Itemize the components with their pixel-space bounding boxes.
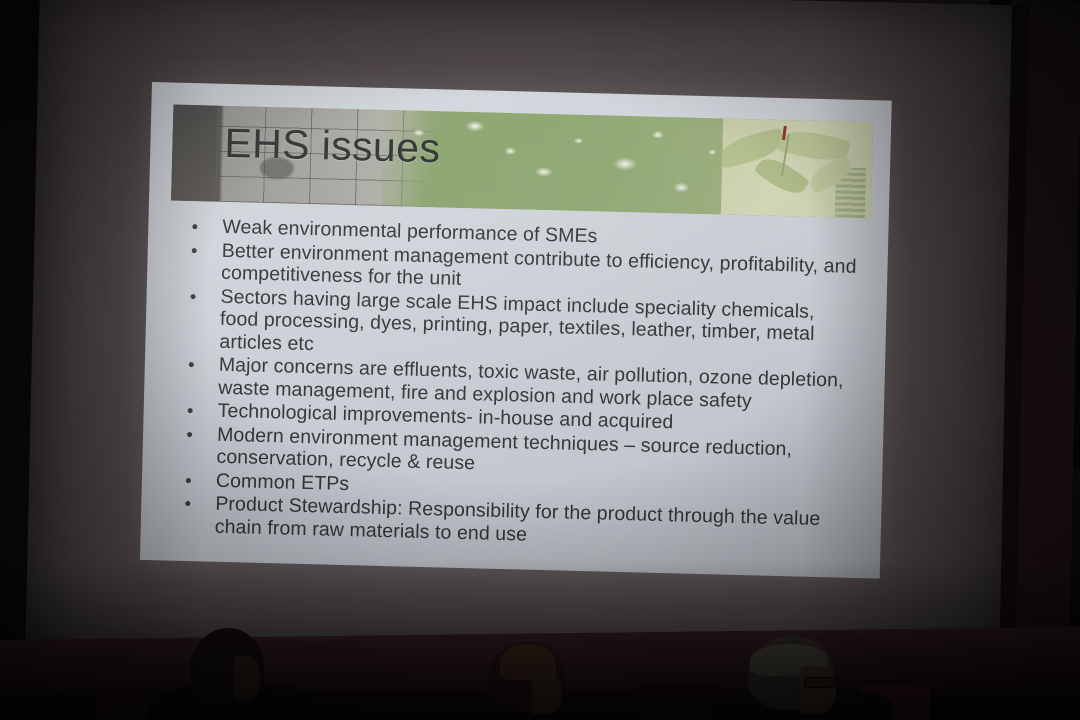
bullet-dot-icon <box>192 224 197 229</box>
seated-person-center <box>470 640 600 720</box>
bullet-dot-icon <box>191 294 196 299</box>
slide-title-banner: EHS issues <box>171 105 873 219</box>
person-face-profile <box>532 672 562 714</box>
bullet-dot-icon <box>187 432 192 437</box>
seated-person-right <box>726 634 876 720</box>
leaf-shape <box>754 151 810 201</box>
bullet-dot-icon <box>185 501 190 506</box>
projected-slide: EHS issues Weak environmental performanc… <box>140 82 892 579</box>
photo-scene: EHS issues Weak environmental performanc… <box>0 0 1080 720</box>
slide-bullet-list: Weak environmental performance of SMEs B… <box>163 215 859 554</box>
person-face-profile <box>234 656 260 700</box>
bullet-dot-icon <box>192 248 197 253</box>
screen-right-edge-shadow <box>998 0 1080 720</box>
bullet-dot-icon <box>186 477 191 482</box>
bullet-text: Common ETPs <box>216 469 350 494</box>
slide-title: EHS issues <box>224 120 441 172</box>
eyeglasses-icon <box>804 677 840 688</box>
person-face-profile <box>800 666 836 714</box>
bullet-dot-icon <box>188 408 193 413</box>
banner-dark-column <box>171 105 217 202</box>
seated-person-left <box>168 630 298 720</box>
chair-back <box>94 694 148 720</box>
bullet-dot-icon <box>189 362 194 367</box>
banner-leaf-sprig-photo <box>721 118 873 218</box>
